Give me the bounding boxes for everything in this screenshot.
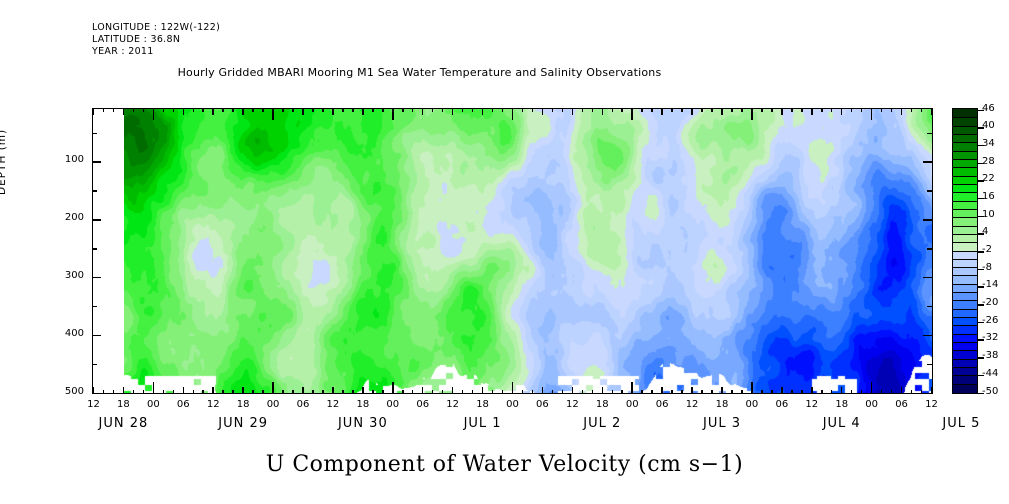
colorbar-divider	[953, 142, 977, 143]
colorbar	[952, 108, 978, 394]
x-minor-tick-top	[252, 108, 254, 112]
y-tick-right	[923, 161, 932, 163]
x-minor-tick-top	[492, 108, 494, 112]
x-tick-bottom	[123, 387, 125, 394]
colorbar-divider	[953, 159, 977, 160]
colorbar-divider	[953, 375, 977, 376]
x-minor-tick-bottom	[921, 390, 923, 394]
colorbar-tick	[978, 357, 984, 359]
x-minor-tick-top	[352, 108, 354, 112]
y-tick-label: 400	[44, 328, 84, 339]
colorbar-tick-label: -50	[982, 386, 998, 397]
x-tick-top	[751, 108, 753, 120]
colorbar-tick-label: -44	[982, 368, 998, 379]
colorbar-divider	[953, 309, 977, 310]
colorbar-tick	[978, 145, 984, 147]
x-tick-bottom	[392, 382, 394, 394]
x-tick-bottom	[362, 387, 364, 394]
colorbar-divider	[953, 234, 977, 235]
x-minor-tick-top	[701, 108, 703, 112]
x-tick-top	[691, 108, 693, 115]
x-tick-top	[302, 108, 304, 115]
x-minor-tick-bottom	[851, 390, 853, 394]
x-day-label: JUL 4	[787, 416, 897, 431]
x-minor-tick-top	[612, 108, 614, 112]
y-tick-right	[927, 248, 932, 250]
x-minor-tick-top	[402, 108, 404, 112]
x-minor-tick-bottom	[232, 390, 234, 394]
colorbar-tick	[978, 286, 984, 288]
colorbar-tick-label: -38	[982, 350, 998, 361]
x-minor-tick-top	[432, 108, 434, 112]
x-minor-tick-top	[163, 108, 165, 112]
x-minor-tick-top	[312, 108, 314, 112]
colorbar-divider	[953, 126, 977, 127]
x-minor-tick-bottom	[412, 390, 414, 394]
x-tick-bottom	[242, 387, 244, 394]
x-minor-tick-bottom	[312, 390, 314, 394]
colorbar-tick-label: 28	[982, 156, 995, 167]
y-axis-title: DEPTH (m)	[0, 129, 8, 195]
x-tick-top	[841, 108, 843, 115]
y-tick	[92, 190, 97, 192]
x-minor-tick-bottom	[681, 390, 683, 394]
x-tick-top	[871, 108, 873, 120]
x-minor-tick-bottom	[502, 390, 504, 394]
x-minor-tick-top	[831, 108, 833, 112]
x-minor-tick-top	[202, 108, 204, 112]
x-tick-bottom	[841, 387, 843, 394]
x-tick-bottom	[781, 387, 783, 394]
x-tick-top	[242, 108, 244, 115]
x-minor-tick-top	[741, 108, 743, 112]
y-tick-right	[927, 133, 932, 135]
x-minor-tick-bottom	[552, 390, 554, 394]
x-hour-label: 06	[408, 399, 438, 410]
x-tick-top	[631, 108, 633, 120]
x-hour-label: 06	[168, 399, 198, 410]
colorbar-tick	[978, 198, 984, 200]
x-minor-tick-bottom	[861, 390, 863, 394]
x-minor-tick-top	[641, 108, 643, 112]
x-minor-tick-top	[472, 108, 474, 112]
x-minor-tick-bottom	[222, 390, 224, 394]
x-minor-tick-top	[791, 108, 793, 112]
x-minor-tick-bottom	[202, 390, 204, 394]
y-tick-label: 200	[44, 212, 84, 223]
colorbar-tick-label: -2	[982, 244, 992, 255]
x-minor-tick-bottom	[791, 390, 793, 394]
x-tick-bottom	[452, 387, 454, 394]
x-minor-tick-top	[342, 108, 344, 112]
colorbar-tick	[978, 393, 984, 395]
x-hour-label: 18	[468, 399, 498, 410]
x-day-label: JUN 30	[308, 416, 418, 431]
x-minor-tick-bottom	[252, 390, 254, 394]
colorbar-tick	[978, 110, 984, 112]
x-minor-tick-bottom	[592, 390, 594, 394]
y-tick-right	[923, 335, 932, 337]
x-minor-tick-top	[801, 108, 803, 112]
x-hour-label: 00	[617, 399, 647, 410]
x-minor-tick-bottom	[492, 390, 494, 394]
colorbar-segment	[953, 384, 977, 393]
colorbar-divider	[953, 251, 977, 252]
x-minor-tick-top	[921, 108, 923, 112]
x-minor-tick-bottom	[163, 390, 165, 394]
colorbar-tick	[978, 269, 984, 271]
x-tick-top	[811, 108, 813, 115]
x-minor-tick-top	[582, 108, 584, 112]
x-minor-tick-bottom	[711, 390, 713, 394]
y-tick	[92, 219, 101, 221]
x-tick-top	[272, 108, 274, 120]
x-minor-tick-top	[372, 108, 374, 112]
x-tick-top	[362, 108, 364, 115]
colorbar-divider	[953, 167, 977, 168]
x-hour-label: 06	[887, 399, 917, 410]
x-minor-tick-bottom	[103, 390, 105, 394]
colorbar-divider	[953, 184, 977, 185]
x-hour-label: 12	[557, 399, 587, 410]
x-hour-label: 12	[198, 399, 228, 410]
colorbar-tick-label: 40	[982, 120, 995, 131]
x-tick-bottom	[572, 387, 574, 394]
x-tick-bottom	[153, 382, 155, 394]
x-day-label: JUL 1	[428, 416, 538, 431]
x-minor-tick-bottom	[113, 390, 115, 394]
x-tick-top	[602, 108, 604, 115]
x-minor-tick-bottom	[462, 390, 464, 394]
x-hour-label: 00	[857, 399, 887, 410]
x-minor-tick-top	[232, 108, 234, 112]
y-tick	[92, 306, 97, 308]
x-tick-bottom	[602, 387, 604, 394]
x-minor-tick-bottom	[522, 390, 524, 394]
colorbar-divider	[953, 209, 977, 210]
x-minor-tick-top	[262, 108, 264, 112]
colorbar-divider	[953, 242, 977, 243]
x-minor-tick-bottom	[262, 390, 264, 394]
x-minor-tick-bottom	[143, 390, 145, 394]
x-minor-tick-top	[143, 108, 145, 112]
x-tick-top	[392, 108, 394, 120]
colorbar-tick	[978, 251, 984, 253]
colorbar-tick	[978, 322, 984, 324]
x-minor-tick-top	[891, 108, 893, 112]
x-tick-bottom	[871, 382, 873, 394]
x-minor-tick-top	[292, 108, 294, 112]
colorbar-divider	[953, 317, 977, 318]
x-tick-bottom	[751, 382, 753, 394]
y-tick	[92, 248, 97, 250]
x-minor-tick-bottom	[282, 390, 284, 394]
y-tick	[92, 335, 101, 337]
x-tick-top	[422, 108, 424, 115]
colorbar-divider	[953, 217, 977, 218]
colorbar-tick	[978, 180, 984, 182]
x-minor-tick-bottom	[562, 390, 564, 394]
x-minor-tick-top	[671, 108, 673, 112]
x-minor-tick-top	[821, 108, 823, 112]
colorbar-divider	[953, 192, 977, 193]
colorbar-tick	[978, 375, 984, 377]
x-tick-top	[901, 108, 903, 115]
colorbar-divider	[953, 292, 977, 293]
y-tick-right	[927, 306, 932, 308]
colorbar-tick	[978, 339, 984, 341]
colorbar-divider	[953, 359, 977, 360]
x-tick-top	[153, 108, 155, 120]
longitude-text: LONGITUDE : 122W(-122)	[92, 22, 220, 34]
x-minor-tick-top	[322, 108, 324, 112]
colorbar-tick	[978, 163, 984, 165]
x-minor-tick-top	[282, 108, 284, 112]
x-minor-tick-top	[173, 108, 175, 112]
y-tick	[92, 133, 97, 135]
x-tick-top	[482, 108, 484, 115]
x-minor-tick-bottom	[651, 390, 653, 394]
y-tick-right	[923, 277, 932, 279]
x-minor-tick-top	[193, 108, 195, 112]
x-minor-tick-bottom	[442, 390, 444, 394]
x-tick-top	[721, 108, 723, 115]
x-minor-tick-top	[133, 108, 135, 112]
x-tick-top	[661, 108, 663, 115]
x-hour-label: 18	[707, 399, 737, 410]
x-tick-bottom	[661, 387, 663, 394]
x-minor-tick-bottom	[831, 390, 833, 394]
x-minor-tick-top	[502, 108, 504, 112]
x-minor-tick-bottom	[193, 390, 195, 394]
colorbar-divider	[953, 325, 977, 326]
colorbar-tick-label: 16	[982, 191, 995, 202]
x-tick-top	[781, 108, 783, 115]
x-minor-tick-bottom	[612, 390, 614, 394]
metadata-block: LONGITUDE : 122W(-122) LATITUDE : 36.8N …	[92, 22, 220, 57]
colorbar-tick-label: 4	[982, 226, 988, 237]
x-hour-label: 18	[108, 399, 138, 410]
x-tick-bottom	[212, 387, 214, 394]
x-hour-label: 06	[647, 399, 677, 410]
colorbar-divider	[953, 151, 977, 152]
colorbar-tick-label: 10	[982, 209, 995, 220]
x-tick-bottom	[183, 387, 185, 394]
x-hour-label: 12	[797, 399, 827, 410]
colorbar-tick	[978, 233, 984, 235]
colorbar-tick	[978, 216, 984, 218]
x-hour-label: 18	[587, 399, 617, 410]
x-minor-tick-top	[711, 108, 713, 112]
x-day-label: JUL 3	[667, 416, 777, 431]
x-tick-top	[332, 108, 334, 115]
x-minor-tick-top	[382, 108, 384, 112]
x-minor-tick-top	[522, 108, 524, 112]
y-tick-label: 500	[44, 386, 84, 397]
x-minor-tick-top	[412, 108, 414, 112]
x-minor-tick-top	[442, 108, 444, 112]
x-hour-label: 06	[288, 399, 318, 410]
x-tick-bottom	[542, 387, 544, 394]
x-minor-tick-bottom	[911, 390, 913, 394]
colorbar-divider	[953, 134, 977, 135]
x-minor-tick-top	[621, 108, 623, 112]
x-minor-tick-bottom	[472, 390, 474, 394]
colorbar-tick	[978, 304, 984, 306]
colorbar-divider	[953, 334, 977, 335]
x-hour-label: 12	[438, 399, 468, 410]
colorbar-divider	[953, 226, 977, 227]
x-minor-tick-top	[681, 108, 683, 112]
x-minor-tick-bottom	[133, 390, 135, 394]
x-minor-tick-bottom	[641, 390, 643, 394]
colorbar-divider	[953, 201, 977, 202]
x-minor-tick-bottom	[671, 390, 673, 394]
x-hour-label: 00	[737, 399, 767, 410]
x-minor-tick-bottom	[582, 390, 584, 394]
colorbar-tick	[978, 127, 984, 129]
x-tick-top	[512, 108, 514, 120]
colorbar-tick-label: -20	[982, 297, 998, 308]
x-minor-tick-top	[651, 108, 653, 112]
x-tick-top	[212, 108, 214, 115]
x-minor-tick-top	[532, 108, 534, 112]
x-tick-bottom	[422, 387, 424, 394]
x-minor-tick-bottom	[761, 390, 763, 394]
x-minor-tick-top	[771, 108, 773, 112]
x-tick-bottom	[811, 387, 813, 394]
x-minor-tick-bottom	[701, 390, 703, 394]
colorbar-divider	[953, 284, 977, 285]
colorbar-divider	[953, 267, 977, 268]
x-minor-tick-top	[462, 108, 464, 112]
x-tick-bottom	[332, 387, 334, 394]
x-minor-tick-bottom	[741, 390, 743, 394]
x-minor-tick-top	[761, 108, 763, 112]
x-tick-top	[931, 108, 933, 115]
x-hour-label: 00	[258, 399, 288, 410]
y-tick-right	[927, 364, 932, 366]
y-tick	[92, 161, 101, 163]
x-tick-bottom	[721, 387, 723, 394]
x-minor-tick-bottom	[372, 390, 374, 394]
x-hour-label: 06	[767, 399, 797, 410]
x-hour-label: 12	[79, 399, 109, 410]
x-tick-top	[123, 108, 125, 115]
x-minor-tick-top	[222, 108, 224, 112]
x-hour-label: 12	[917, 399, 947, 410]
x-minor-tick-top	[562, 108, 564, 112]
x-hour-label: 00	[138, 399, 168, 410]
x-minor-tick-bottom	[881, 390, 883, 394]
x-day-label: JUL 5	[906, 416, 1009, 431]
x-tick-top	[452, 108, 454, 115]
x-minor-tick-bottom	[382, 390, 384, 394]
x-minor-tick-bottom	[342, 390, 344, 394]
colorbar-tick-label: 22	[982, 173, 995, 184]
x-minor-tick-bottom	[771, 390, 773, 394]
x-minor-tick-bottom	[322, 390, 324, 394]
x-minor-tick-bottom	[432, 390, 434, 394]
figure-caption: U Component of Water Velocity (cm s−1)	[0, 452, 1009, 477]
colorbar-divider	[953, 342, 977, 343]
x-minor-tick-bottom	[292, 390, 294, 394]
plot-frame	[92, 108, 933, 394]
x-tick-bottom	[931, 387, 933, 394]
y-tick-label: 100	[44, 154, 84, 165]
x-day-label: JUN 28	[68, 416, 178, 431]
x-tick-bottom	[93, 387, 95, 394]
x-hour-label: 12	[677, 399, 707, 410]
chart-title: Hourly Gridded MBARI Mooring M1 Sea Wate…	[0, 66, 1009, 79]
x-minor-tick-top	[113, 108, 115, 112]
x-minor-tick-bottom	[731, 390, 733, 394]
x-minor-tick-top	[851, 108, 853, 112]
colorbar-tick-label: -14	[982, 279, 998, 290]
latitude-text: LATITUDE : 36.8N	[92, 34, 220, 46]
x-day-label: JUN 29	[188, 416, 298, 431]
colorbar-tick-label: 46	[982, 103, 995, 114]
colorbar-divider	[953, 176, 977, 177]
x-tick-top	[93, 108, 95, 115]
x-tick-bottom	[901, 387, 903, 394]
x-hour-label: 18	[827, 399, 857, 410]
x-tick-bottom	[482, 387, 484, 394]
x-minor-tick-top	[731, 108, 733, 112]
x-hour-label: 12	[318, 399, 348, 410]
x-minor-tick-top	[552, 108, 554, 112]
colorbar-tick-label: -8	[982, 262, 992, 273]
year-text: YEAR : 2011	[92, 46, 220, 58]
x-minor-tick-top	[103, 108, 105, 112]
y-tick-label: 300	[44, 270, 84, 281]
x-minor-tick-bottom	[402, 390, 404, 394]
y-tick	[92, 364, 97, 366]
x-day-label: JUL 2	[547, 416, 657, 431]
x-hour-label: 18	[348, 399, 378, 410]
colorbar-tick-label: -26	[982, 315, 998, 326]
x-minor-tick-bottom	[891, 390, 893, 394]
x-hour-label: 18	[228, 399, 258, 410]
x-minor-tick-bottom	[801, 390, 803, 394]
x-tick-bottom	[631, 382, 633, 394]
colorbar-tick-label: 34	[982, 138, 995, 149]
x-minor-tick-top	[861, 108, 863, 112]
x-tick-bottom	[691, 387, 693, 394]
y-tick-right	[927, 190, 932, 192]
colorbar-divider	[953, 367, 977, 368]
x-minor-tick-top	[911, 108, 913, 112]
y-tick	[92, 277, 101, 279]
x-minor-tick-bottom	[621, 390, 623, 394]
y-tick-right	[923, 219, 932, 221]
x-hour-label: 00	[378, 399, 408, 410]
x-minor-tick-bottom	[173, 390, 175, 394]
x-tick-top	[183, 108, 185, 115]
x-tick-bottom	[512, 382, 514, 394]
x-hour-label: 06	[527, 399, 557, 410]
x-hour-label: 00	[498, 399, 528, 410]
x-tick-top	[542, 108, 544, 115]
colorbar-divider	[953, 384, 977, 385]
colorbar-divider	[953, 259, 977, 260]
x-minor-tick-bottom	[352, 390, 354, 394]
x-tick-bottom	[272, 382, 274, 394]
colorbar-tick-label: -32	[982, 332, 998, 343]
colorbar-divider	[953, 275, 977, 276]
colorbar-divider	[953, 300, 977, 301]
colorbar-divider	[953, 350, 977, 351]
